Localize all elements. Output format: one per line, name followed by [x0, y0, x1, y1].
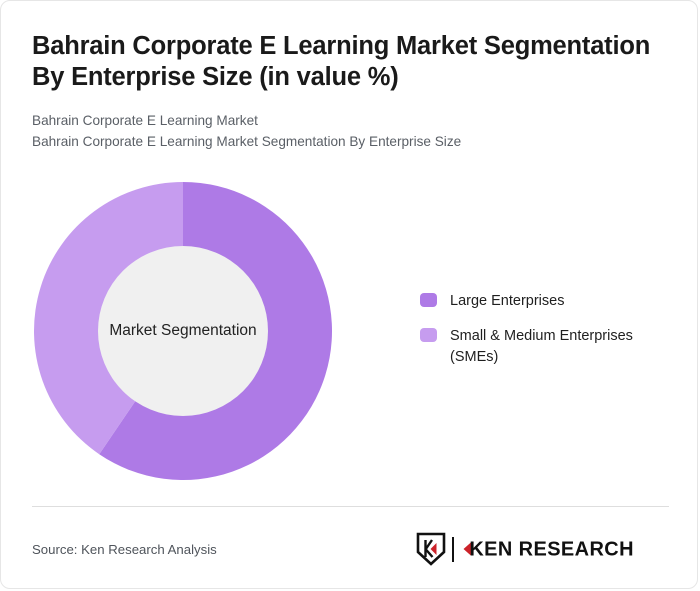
chart-card: Bahrain Corporate E Learning Market Segm… [0, 0, 698, 589]
legend-swatch-icon-smes [420, 328, 437, 342]
legend-item-smes[interactable]: Small & Medium Enterprises (SMEs) [420, 326, 670, 368]
logo-triangle-accent [431, 543, 437, 555]
legend-item-large-enterprises[interactable]: Large Enterprises [420, 291, 670, 312]
ken-research-logo: KEN RESEARCH [416, 532, 669, 566]
logo-word-text: KEN RESEARCH [469, 539, 634, 561]
donut-center-hole [98, 246, 268, 416]
source-note: Source: Ken Research Analysis [32, 542, 217, 557]
donut-chart[interactable]: Market Segmentation [34, 182, 332, 480]
chart-legend: Large Enterprises Small & Medium Enterpr… [420, 291, 670, 382]
legend-swatch-icon-large-enterprises [420, 293, 437, 307]
footer-divider [32, 506, 669, 507]
chart-plot-area: Market Segmentation Large Enterprises Sm… [1, 1, 698, 501]
logo-wordmark: KEN RESEARCH [461, 536, 669, 562]
donut-svg [34, 182, 332, 480]
chart-footer: Source: Ken Research Analysis KEN RESEAR… [32, 529, 669, 569]
legend-label-smes: Small & Medium Enterprises (SMEs) [450, 326, 655, 368]
shield-k-logo-icon [416, 532, 446, 566]
legend-label-large-enterprises: Large Enterprises [450, 291, 564, 312]
logo-separator [452, 537, 454, 562]
